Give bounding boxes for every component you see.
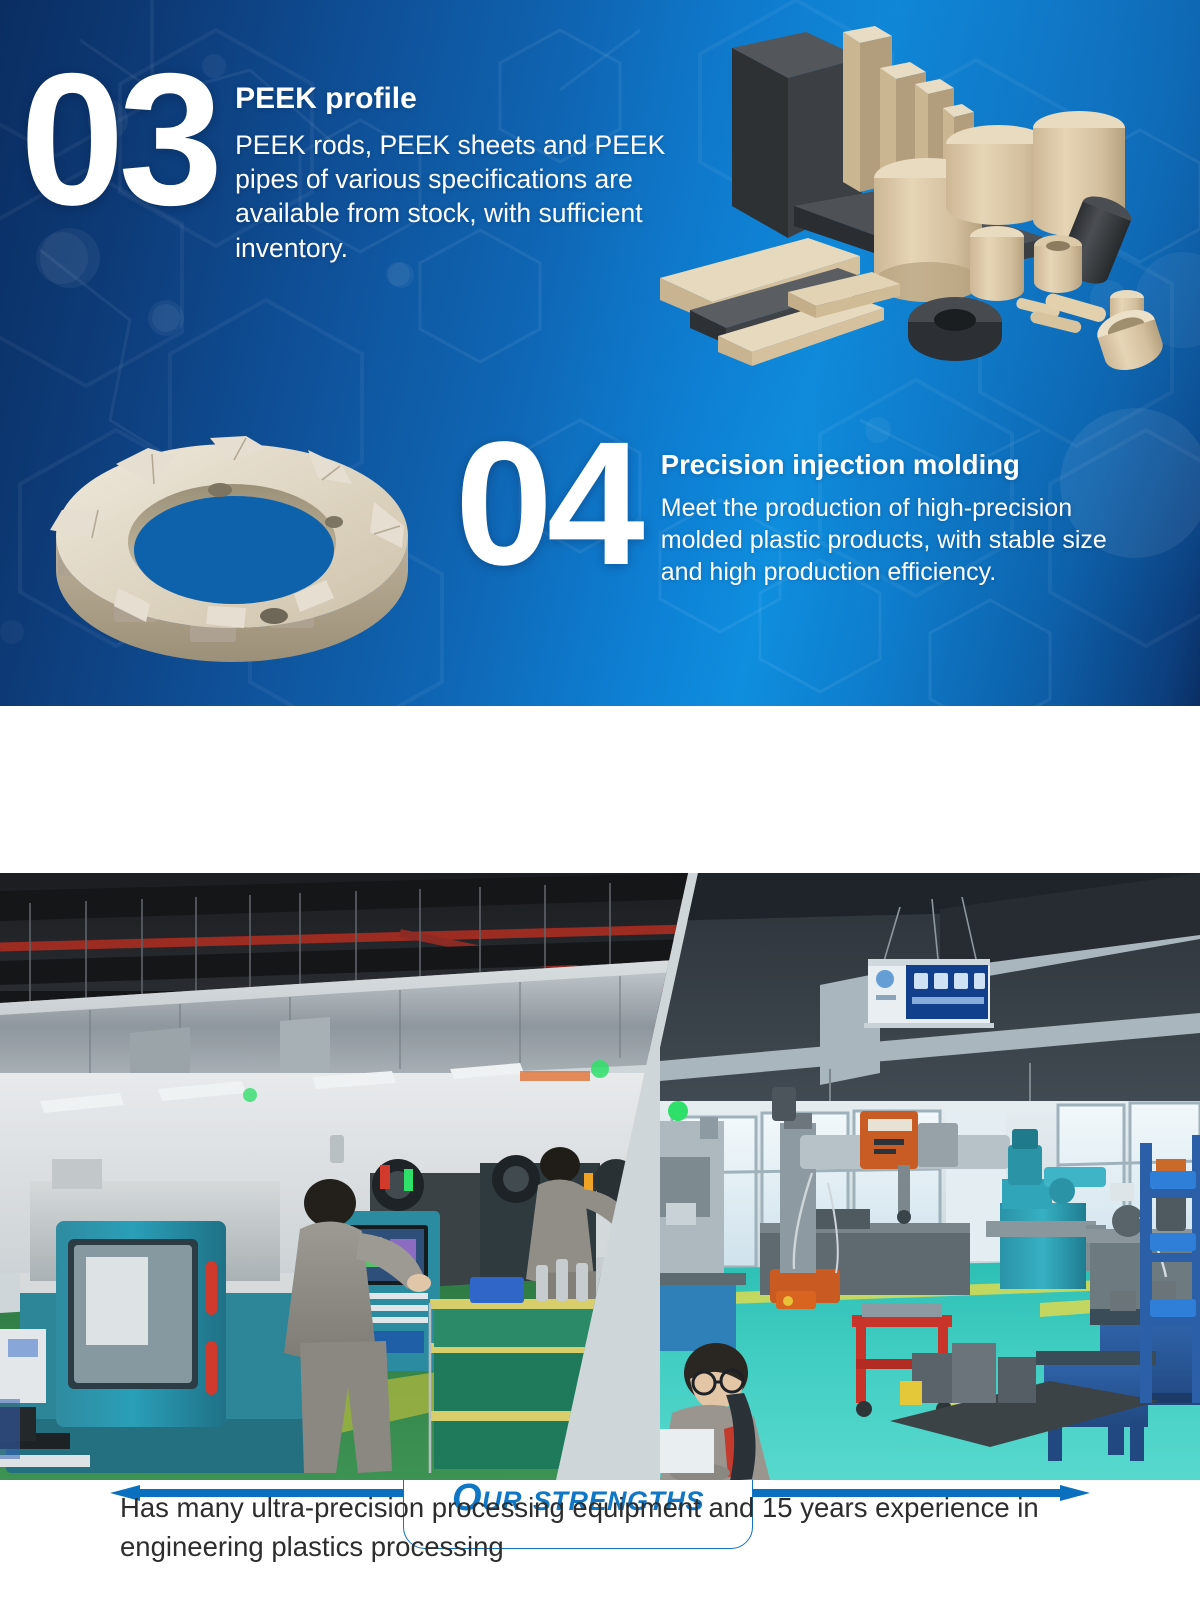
hero-blue-panel: 03 PEEK profile PEEK rods, PEEK sheets a…	[0, 0, 1200, 706]
decorative-circle	[148, 300, 184, 336]
peek-profile-products-photo	[660, 10, 1200, 372]
feature-block-04: 04 Precision injection molding Meet the …	[455, 432, 1153, 588]
decorative-circle	[0, 620, 24, 644]
peek-gear-ring-photo	[22, 398, 442, 682]
feature-body-03: PEEK rods, PEEK sheets and PEEK pipes of…	[235, 128, 671, 266]
page-caption: Has many ultra-precision processing equi…	[0, 1488, 1200, 1566]
feature-body-04: Meet the production of high-precision mo…	[661, 492, 1153, 588]
feature-title-03: PEEK profile	[235, 82, 671, 116]
feature-block-03: 03 PEEK profile PEEK rods, PEEK sheets a…	[20, 62, 671, 265]
feature-number-03: 03	[20, 62, 217, 216]
feature-title-04: Precision injection molding	[661, 450, 1153, 481]
strengths-banner: Our strengths	[0, 706, 1200, 873]
feature-number-04: 04	[455, 432, 639, 576]
decorative-circle	[388, 262, 414, 288]
promo-page: 03 PEEK profile PEEK rods, PEEK sheets a…	[0, 0, 1200, 1616]
workshop-photo-band	[0, 873, 1200, 1480]
